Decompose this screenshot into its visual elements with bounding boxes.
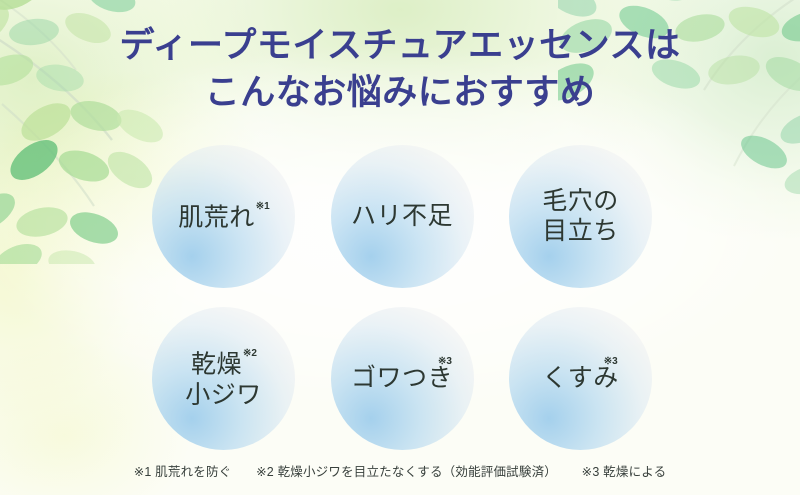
bubble-label: ※3 くすみ [542, 364, 619, 394]
bubble-label: 乾燥※2 小ジワ [185, 346, 262, 410]
title-line-2: こんなお悩みにおすすめ [0, 69, 800, 116]
bubble-text-line-2: 小ジワ [185, 381, 262, 411]
concern-bubble-row-1: 肌荒れ※1 ハリ不足 毛穴の 目立ち [152, 145, 652, 288]
concern-bubble-row-2: 乾燥※2 小ジワ ※3 ゴワつき ※3 くすみ [152, 307, 652, 450]
concern-bubble-hada-are[interactable]: 肌荒れ※1 [152, 145, 295, 288]
footnote-marker: ※1 [256, 201, 270, 212]
bubble-label: ※3 ゴワつき [351, 364, 453, 394]
footnote-2: ※2 乾燥小ジワを目立たなくする（効能評価試験済） [256, 465, 557, 479]
bubble-text-line-1: 乾燥 [191, 352, 242, 379]
footnote-1: ※1 肌荒れを防ぐ [134, 465, 232, 479]
bubble-text-line-2: 目立ち [542, 217, 619, 247]
concern-bubble-kusumi[interactable]: ※3 くすみ [509, 307, 652, 450]
bubble-text-line-1: ハリ不足 [351, 203, 453, 230]
footnote-marker: ※2 [243, 348, 257, 359]
footnote-3: ※3 乾燥による [582, 465, 667, 479]
concern-bubble-kanso-kojiwa[interactable]: 乾燥※2 小ジワ [152, 307, 295, 450]
promo-banner: ディープモイスチュアエッセンスは こんなお悩みにおすすめ 肌荒れ※1 ハリ不足 … [0, 0, 800, 495]
bubble-label: 毛穴の 目立ち [542, 187, 619, 247]
title-line-1: ディープモイスチュアエッセンスは [0, 22, 800, 69]
footnote-list: ※1 肌荒れを防ぐ ※2 乾燥小ジワを目立たなくする（効能評価試験済） ※3 乾… [134, 461, 667, 480]
bubble-label: 肌荒れ※1 [178, 199, 268, 233]
concern-bubble-keana-no-medachi[interactable]: 毛穴の 目立ち [509, 145, 652, 288]
bubble-label: ハリ不足 [351, 202, 453, 232]
banner-title: ディープモイスチュアエッセンスは こんなお悩みにおすすめ [0, 22, 800, 116]
bubble-text-line-1: 毛穴の [542, 188, 619, 215]
bubble-text-line-1: 肌荒れ [178, 205, 255, 232]
footnote-area: ※1 肌荒れを防ぐ ※2 乾燥小ジワを目立たなくする（効能評価試験済） ※3 乾… [0, 461, 800, 481]
concern-bubble-grid: 肌荒れ※1 ハリ不足 毛穴の 目立ち 乾燥※2 小ジワ [152, 145, 652, 450]
footnote-marker: ※3 [604, 347, 618, 377]
concern-bubble-gowatsuki[interactable]: ※3 ゴワつき [331, 307, 474, 450]
footnote-marker: ※3 [438, 347, 452, 377]
concern-bubble-hari-busoku[interactable]: ハリ不足 [331, 145, 474, 288]
